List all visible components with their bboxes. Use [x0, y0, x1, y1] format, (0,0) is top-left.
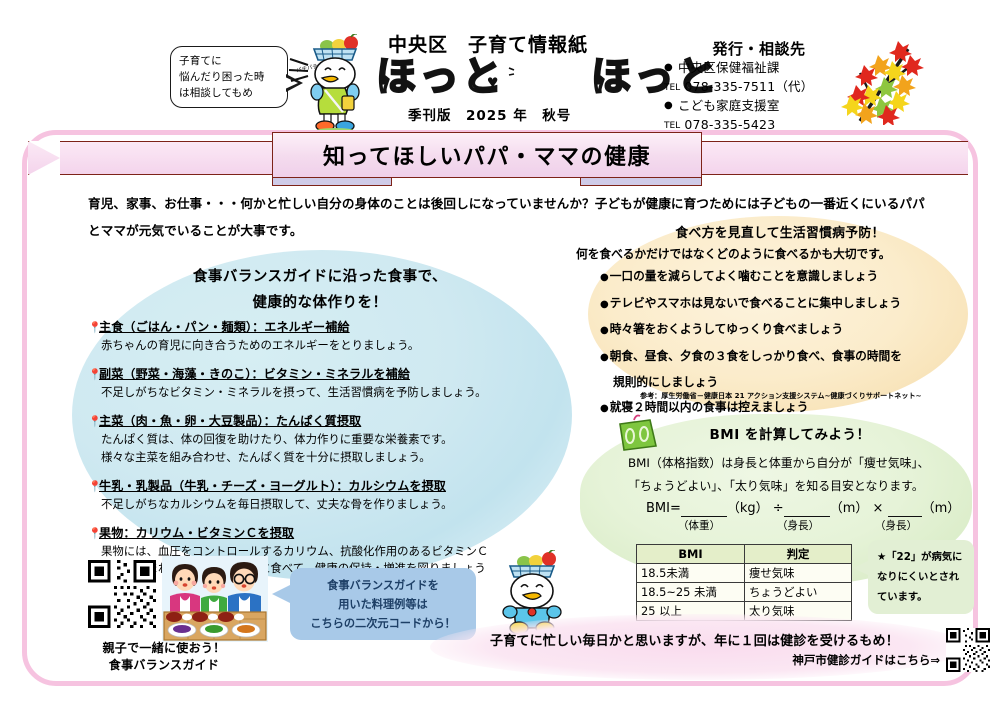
- eating-habits-subtitle: 何を食べるかだけではなくどのように食べるかも大切です。: [576, 245, 976, 262]
- banner-title: 知ってほしいパパ・ママの健康: [323, 139, 651, 171]
- reference-note: 参考：厚生労働省－健康日本 21 アクション支援システム~健康づくりサポートネッ…: [640, 391, 980, 401]
- publisher-name: こども家庭支援室: [678, 98, 780, 113]
- mascot-speech-bubble: 子育てに 悩んだり困った時 は相談してもめ: [170, 46, 288, 108]
- speech-line-2: 悩んだり困った時: [179, 69, 280, 85]
- bullet-icon: ●: [664, 100, 673, 111]
- bottom-message: 子育てに忙しい毎日かと思いますが、年に１回は健診を受けるもめ！: [490, 630, 940, 649]
- page-header: 子育てに 悩んだり困った時 は相談してもめ パチパチ: [0, 0, 1000, 128]
- bmi-formula: BMI= （kg） ÷ （m） × （m）: [646, 497, 976, 517]
- eating-bullet-text: 朝食、昼食、夕食の３食をしっかり食べ、食事の時間を: [610, 349, 902, 363]
- tel-label: TEL: [664, 83, 680, 93]
- list-item: 📍牛乳・乳製品（牛乳・チーズ・ヨーグルト）：カルシウムを摂取 不足しがちなカルシ…: [88, 477, 568, 514]
- qr-code-icon[interactable]: [88, 560, 156, 628]
- pin-icon: 📍: [88, 480, 98, 493]
- qr-info-bubble: 食事バランスガイドを 用いた料理例等は こちらの二次元コードから！: [290, 568, 476, 640]
- food-item-title: 副菜（野菜・海藻・きのこ）：ビタミン・ミネラルを補給: [99, 367, 410, 381]
- publisher-title: 発行・相談先: [664, 38, 854, 59]
- food-guide-list: 📍主食（ごはん・パン・麺類）：エネルギー補給 赤ちゃんの育児に向き合うためのエネ…: [88, 318, 568, 588]
- eating-bullet-text: 就寝２時間以内の食事は控えましょう: [610, 400, 809, 414]
- food-item-title: 牛乳・乳製品（牛乳・チーズ・ヨーグルト）：カルシウムを摂取: [99, 479, 446, 493]
- bmi-judgment: 痩せ気味: [745, 564, 852, 583]
- tel-label: TEL: [664, 121, 680, 131]
- bmi-height-blank-2: [888, 501, 922, 517]
- duck-mascot-icon: [292, 34, 378, 134]
- column-header-judgment: 判定: [745, 545, 852, 564]
- banner-shadow-left: [272, 178, 392, 186]
- food-item-body: 不足しがちなビタミン・ミネラルを摂って、生活習慣病を予防しましょう。: [101, 384, 568, 402]
- bullet-icon: ●: [600, 403, 609, 414]
- publisher-entry: ●こども家庭支援室: [664, 97, 854, 116]
- bmi-heading: BMI を計算してみよう！: [660, 423, 920, 443]
- qr-info-bubble-text: 食事バランスガイドを 用いた料理例等は こちらの二次元コードから！: [310, 576, 455, 633]
- speech-line-3: は相談してもめ: [179, 85, 280, 101]
- publisher-entry: ●中央区保健福祉課: [664, 59, 854, 78]
- food-item-title: 主菜（肉・魚・卵・大豆製品）：たんぱく質摂取: [99, 414, 361, 428]
- logo-text: ほっと ほっと: [376, 54, 636, 100]
- pin-icon: 📍: [88, 527, 98, 540]
- list-item: ●時々箸をおくようしてゆっくり食べましょう: [600, 317, 980, 344]
- bmi-weight-blank: [681, 501, 727, 517]
- publisher-block: 発行・相談先 ●中央区保健福祉課 TEL 078-335-7511（代） ●こど…: [664, 38, 854, 135]
- issue-label: 季刊版 2025 年 秋号: [408, 104, 571, 124]
- qr-code-icon[interactable]: [946, 628, 990, 672]
- bullet-icon: ●: [600, 299, 609, 310]
- publisher-tel: TEL 078-335-7511（代）: [664, 78, 854, 98]
- publisher-name: 中央区保健福祉課: [678, 60, 780, 75]
- tel-number: 078-335-7511（代）: [684, 79, 813, 94]
- qr-caption-line1: 親子で一緒に使おう！: [84, 640, 244, 657]
- list-item: ●テレビやスマホは見ないで食べることに集中しましょう: [600, 291, 980, 318]
- ribbon-notch: [28, 141, 60, 175]
- section-banner: 知ってほしいパパ・ママの健康: [272, 132, 702, 178]
- bmi-judgment: ちょうどよい: [745, 583, 852, 602]
- sparkle-icon: [508, 66, 520, 78]
- food-guide-heading-line1: 食事バランスガイドに沿った食事で、: [120, 264, 520, 290]
- list-item: ●朝食、昼食、夕食の３食をしっかり食べ、食事の時間を 規則的にしましょう: [600, 344, 980, 395]
- bmi-multiply-sign: ×: [873, 501, 884, 516]
- bullet-icon: ●: [600, 325, 609, 336]
- eating-bullet-text: 時々箸をおくようしてゆっくり食べましょう: [610, 322, 843, 336]
- bmi-label-height-2: （身長）: [848, 518, 944, 533]
- ribbon-left: [28, 141, 298, 175]
- list-item: ●一口の量を減らしてよく噛むことを意識しましょう: [600, 264, 980, 291]
- banner-shadow-right: [580, 178, 702, 186]
- bmi-label-weight: （体重）: [650, 518, 748, 533]
- family-eating-icon: [162, 556, 268, 642]
- food-guide-heading-line2: 健康的な体作りを！: [120, 290, 520, 316]
- table-row: 18.5未満 痩せ気味: [637, 564, 852, 583]
- bottom-message-secondary: 神戸市健診ガイドはこちら⇒: [590, 652, 940, 668]
- newsletter-logo: ほっと ほっと: [376, 54, 636, 100]
- list-item: 📍副菜（野菜・海藻・きのこ）：ビタミン・ミネラルを補給 不足しがちなビタミン・ミ…: [88, 365, 568, 402]
- bmi-unit-kg: （kg）: [727, 501, 769, 516]
- bmi-range: 18.5未満: [637, 564, 745, 583]
- bmi-description: BMI（体格指数）は身長と体重から自分が「痩せ気味」、 「ちょうどよい」、「太り…: [628, 452, 968, 498]
- ribbon-right: [700, 141, 968, 175]
- bullet-icon: ●: [600, 352, 609, 363]
- maple-branch-icon: [838, 33, 934, 125]
- speech-line-1: 子育てに: [179, 53, 280, 69]
- bmi-divide-sign: ÷: [773, 501, 784, 516]
- paper-name: 中央区 子育て情報紙: [388, 30, 588, 57]
- eating-habits-heading: 食べ方を見直して生活習慣病予防！: [600, 222, 960, 241]
- pin-icon: 📍: [88, 368, 98, 381]
- bmi-unit-m-1: （m）: [830, 501, 869, 516]
- food-item-title: 果物：カリウム・ビタミンＣを摂取: [99, 526, 294, 540]
- blue-bubble-tail: [272, 584, 292, 604]
- list-item: 📍主菜（肉・魚・卵・大豆製品）：たんぱく質摂取 たんぱく質は、体の回復を助けたり…: [88, 412, 568, 466]
- pin-icon: 📍: [88, 321, 98, 334]
- bmi-note-bubble: ★「22」が病気になりにくいとされています。: [868, 540, 974, 614]
- eating-bullet-text: 一口の量を減らしてよく噛むことを意識しましょう: [610, 269, 878, 283]
- bmi-formula-labels: （体重） （身長） （身長）: [650, 518, 980, 533]
- qr-food-caption: 親子で一緒に使おう！ 食事バランスガイド: [84, 640, 244, 674]
- eating-bullet-text: テレビやスマホは見ないで食べることに集中しましょう: [610, 296, 902, 310]
- list-item: 📍主食（ごはん・パン・麺類）：エネルギー補給 赤ちゃんの育児に向き合うためのエネ…: [88, 318, 568, 355]
- food-guide-heading: 食事バランスガイドに沿った食事で、 健康的な体作りを！: [120, 264, 520, 316]
- bmi-range: 18.5~25 未満: [637, 583, 745, 602]
- food-item-title: 主食（ごはん・パン・麺類）：エネルギー補給: [99, 320, 350, 334]
- bmi-table: BMI 判定 18.5未満 痩せ気味 18.5~25 未満 ちょうどよい 25 …: [636, 544, 852, 621]
- food-item-body: 赤ちゃんの育児に向き合うためのエネルギーをとりましょう。: [101, 337, 568, 355]
- qr-caption-line2: 食事バランスガイド: [84, 657, 244, 674]
- bmi-height-blank-1: [784, 501, 830, 517]
- bullet-icon: ●: [664, 62, 673, 73]
- food-item-body: たんぱく質は、体の回復を助けたり、体力作りに重要な栄養素です。 様々な主菜を組み…: [101, 431, 568, 466]
- bmi-formula-prefix: BMI=: [646, 501, 681, 516]
- bmi-unit-m-2: （m）: [922, 501, 961, 516]
- bullet-icon: ●: [600, 272, 609, 283]
- table-header-row: BMI 判定: [637, 545, 852, 564]
- bmi-label-height-1: （身長）: [748, 518, 848, 533]
- column-header-bmi: BMI: [637, 545, 745, 564]
- heart-icon: ♥: [487, 72, 498, 94]
- food-item-body: 不足しがちなカルシウムを毎日摂取して、丈夫な骨を作りましょう。: [101, 496, 568, 514]
- table-row: 18.5~25 未満 ちょうどよい: [637, 583, 852, 602]
- pin-icon: 📍: [88, 415, 98, 428]
